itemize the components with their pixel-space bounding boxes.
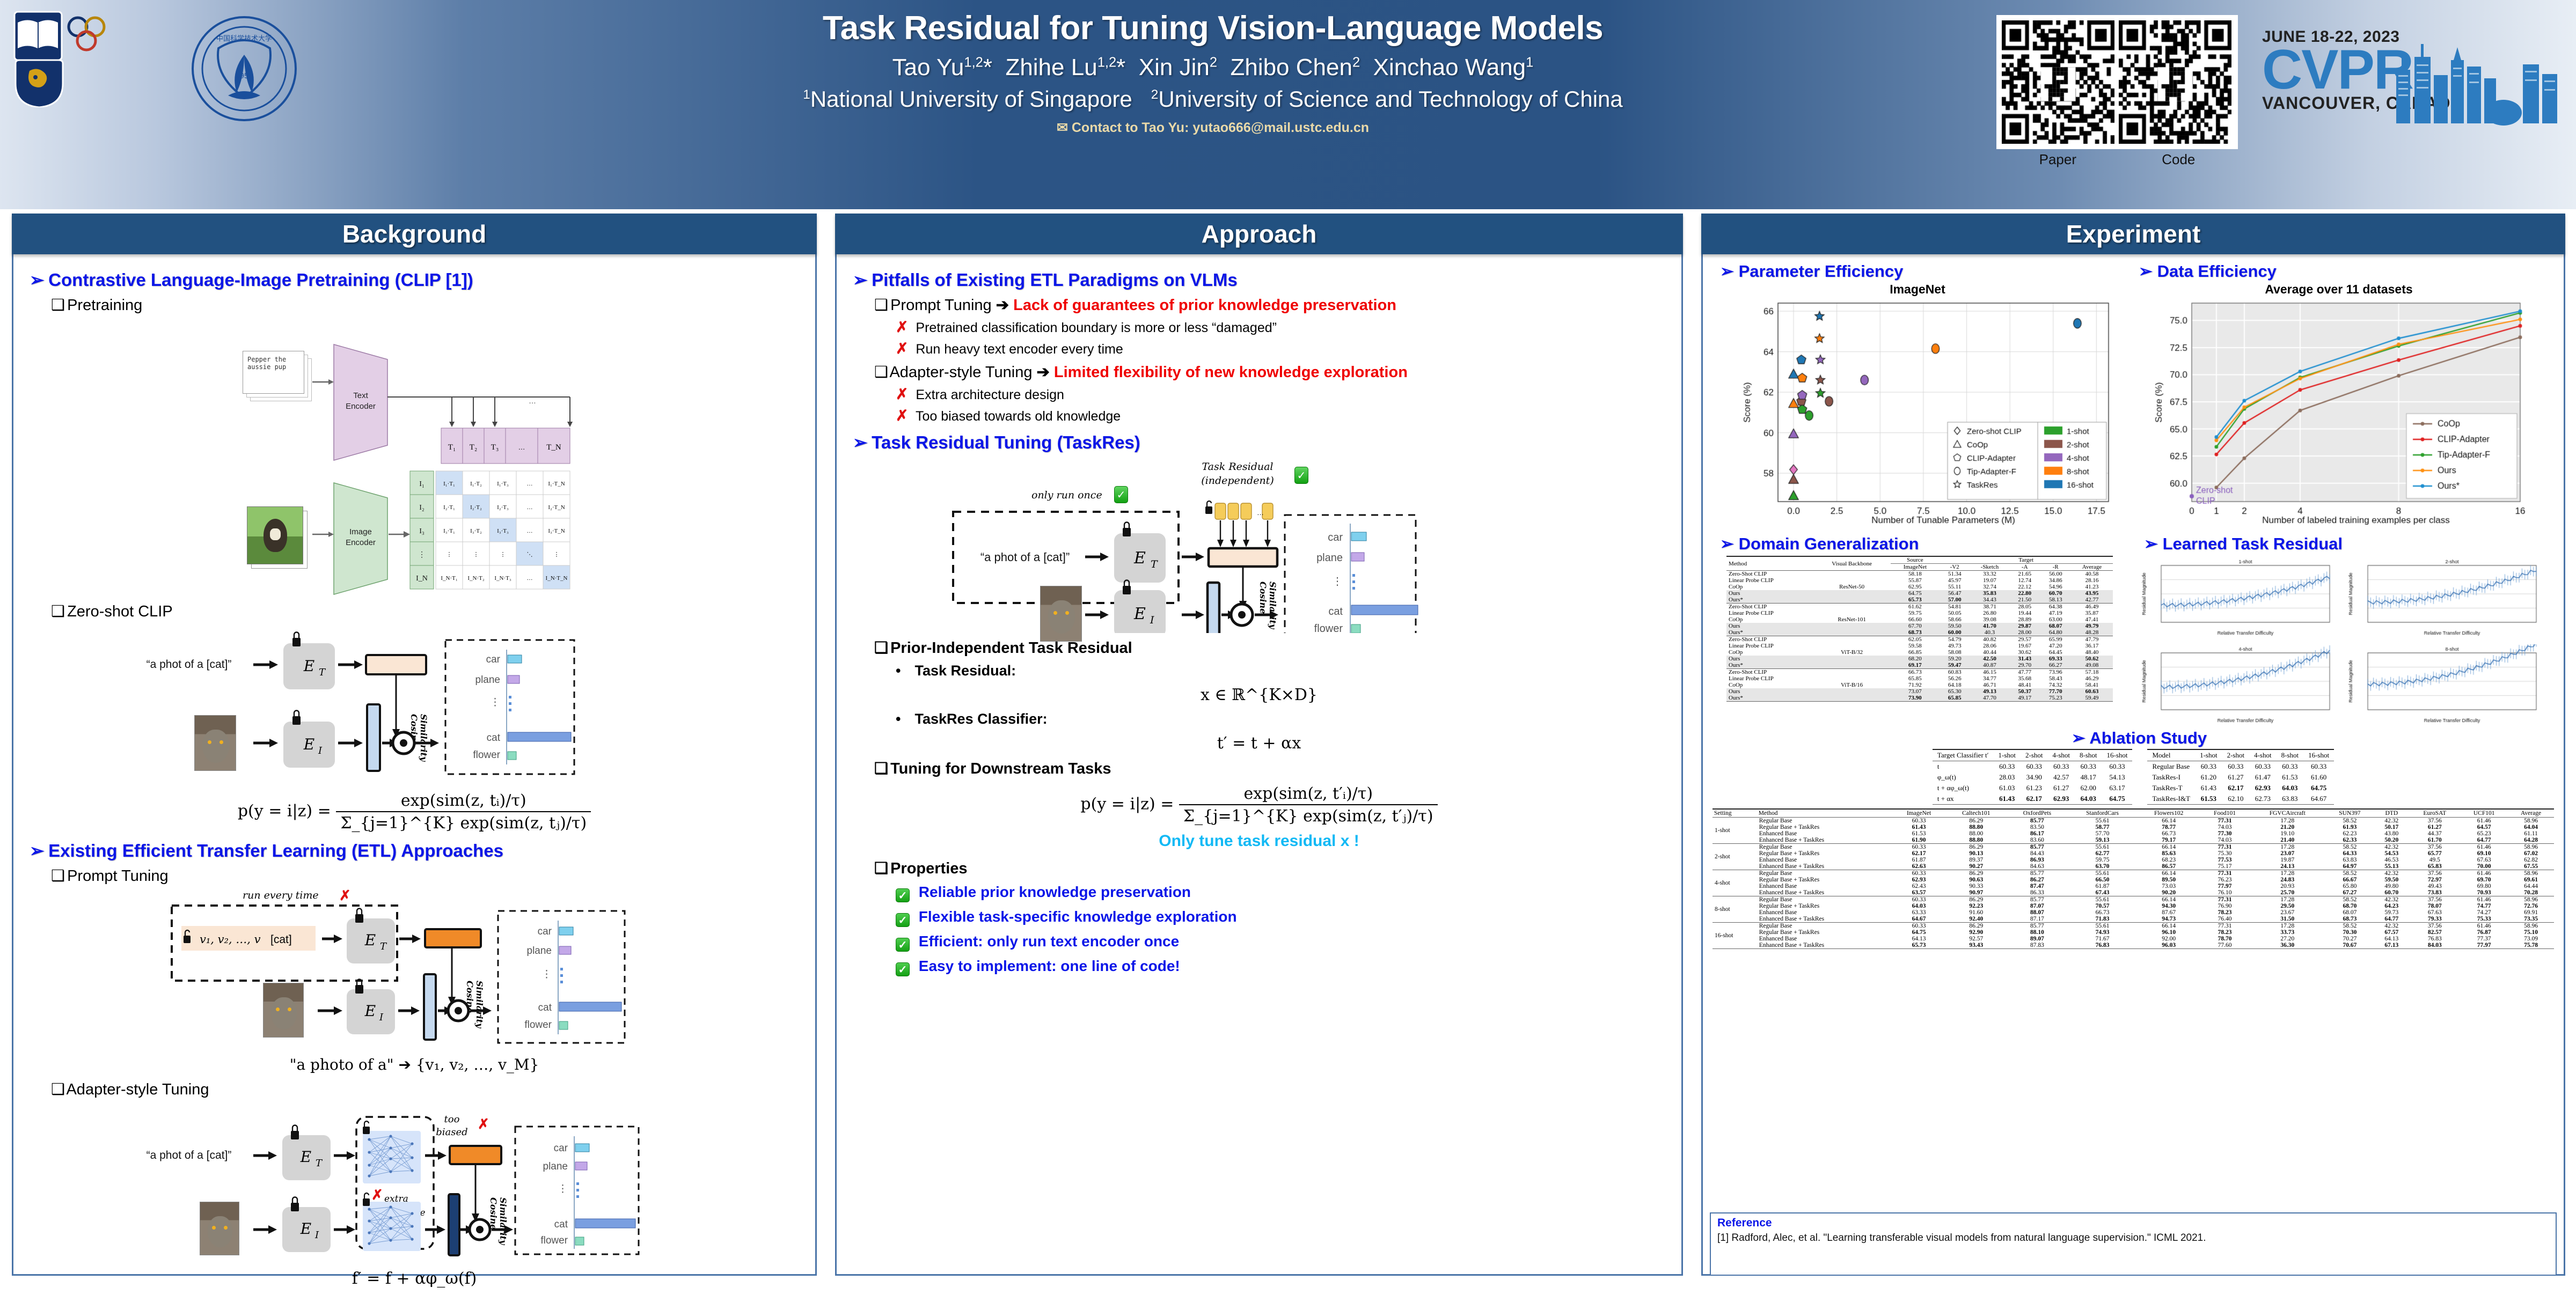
section-clip: ➢ Contrastive Language-Image Pretraining… — [30, 269, 806, 290]
pitfall-adapter-tuning: ❑ Adapter-style Tuning ➔ Limited flexibi… — [874, 363, 1672, 381]
table-row: Enhanced Base + TaskRes61.9088.8083.6059… — [1713, 837, 2554, 844]
poster-header: 1958 中国科学技术大学 Task Residual for Tuning V… — [0, 0, 2576, 209]
column-experiment: Experiment ➢ Parameter Efficiency ImageN… — [1701, 214, 2565, 1276]
subsection-adapter-tuning: ❑ Adapter-style Tuning — [51, 1080, 806, 1099]
qr-code-group: Paper Code — [1996, 15, 2238, 168]
svg-text:…: … — [527, 528, 533, 534]
svg-text:plane: plane — [527, 945, 552, 957]
page-title: Task Residual for Tuning Vision-Language… — [472, 10, 1953, 47]
table-row: 2-shotRegular Base60.3386.2985.7755.6166… — [1713, 843, 2554, 850]
column-approach: Approach ➢ Pitfalls of Existing ETL Para… — [835, 214, 1683, 1276]
table-row: Enhanced Base + TaskRes64.6792.4087.1771… — [1713, 916, 2554, 923]
svg-text:I_N: I_N — [416, 575, 428, 583]
bullet-arrow-icon: ➢ — [2144, 534, 2158, 554]
svg-text:T: T — [316, 1158, 323, 1169]
svg-text:T: T — [1151, 558, 1158, 570]
table-row: Ours*65.7357.0034.4321.5058.1342.77 — [1726, 597, 2113, 604]
table-row: Ours*69.1759.4740.8729.7066.2749.08 — [1726, 662, 2113, 669]
table-row: Regular Base + TaskRes64.7592.9088.1074.… — [1713, 929, 2554, 936]
subsection-zeroshot-clip: ❑ Zero-shot CLIP — [51, 602, 806, 621]
svg-text:T: T — [319, 667, 326, 678]
pitfall-point: ✗ Pretrained classification boundary is … — [896, 318, 1672, 336]
table-row: Ours67.7059.5041.7029.8768.0749.79 — [1726, 623, 2113, 629]
svg-text:⋮: ⋮ — [473, 551, 479, 558]
task-residual-formula: x ∈ ℝ^{K×D} — [846, 686, 1672, 704]
data-efficiency-chart — [2151, 297, 2527, 527]
paper-qr-label: Paper — [2039, 151, 2076, 168]
svg-text:E: E — [1133, 549, 1146, 568]
table-row: Ours*73.9065.8547.7049.1775.2359.49 — [1726, 695, 2113, 702]
svg-text:I₁·T₁: I₁·T₁ — [443, 481, 455, 487]
ltr-panel — [2140, 644, 2342, 727]
table-row: 16-shotRegular Base60.3386.2985.7755.616… — [1713, 922, 2554, 929]
property-item: ✓ Easy to implement: one line of code! — [896, 958, 1672, 976]
section-parameter-efficiency: ➢ Parameter Efficiency — [1720, 262, 2127, 281]
svg-text:E: E — [300, 1220, 311, 1238]
pitfall-prompt-tuning: ❑ Prompt Tuning ➔ Lack of guarantees of … — [874, 296, 1672, 314]
svg-text:…: … — [1257, 509, 1264, 517]
cat-photo — [1040, 586, 1082, 642]
table-row: CoOpResNet-10166.6058.6639.0828.8963.004… — [1726, 616, 2113, 623]
square-bullet-icon: ❑ — [51, 1080, 63, 1099]
table-row: Enhanced Base64.1392.5789.0771.6792.0078… — [1713, 936, 2554, 942]
scatter-chart-title: ImageNet — [1708, 282, 2127, 297]
subsection-prompt-tuning: ❑ Prompt Tuning — [51, 866, 806, 885]
svg-text:biased: biased — [436, 1127, 467, 1138]
svg-text:cat: cat — [1328, 606, 1343, 617]
subsection-properties: ❑ Properties — [874, 859, 1672, 878]
svg-text:car: car — [554, 1143, 568, 1154]
svg-text:…: … — [527, 504, 533, 511]
table-row: t60.3360.3360.3360.3360.33 — [1933, 761, 2133, 773]
x-mark-icon: ✗ — [896, 407, 908, 424]
cat-photo — [263, 983, 304, 1038]
nus-logo — [13, 11, 118, 102]
svg-text:T₁: T₁ — [448, 443, 456, 452]
svg-text:I₂·T₂: I₂·T₂ — [470, 504, 482, 511]
square-bullet-icon: ❑ — [874, 859, 886, 878]
svg-text:flower: flower — [1314, 623, 1343, 633]
svg-text:I₁·T_N: I₁·T_N — [548, 481, 565, 487]
svg-text:I₃·T₂: I₃·T₂ — [470, 528, 482, 534]
svg-text:…: … — [527, 575, 533, 582]
table-row: 4-shotRegular Base60.3386.2985.7755.6166… — [1713, 870, 2554, 877]
bullet-arrow-icon: ➢ — [30, 840, 43, 861]
svg-text:E: E — [300, 1148, 311, 1166]
x-mark-icon: ✗ — [339, 887, 351, 904]
svg-text:✗: ✗ — [371, 1187, 383, 1203]
svg-text:T_N: T_N — [546, 443, 561, 452]
svg-text:I: I — [318, 745, 323, 756]
table-row: Ours*68.7360.0040.328.0064.8048.28 — [1726, 629, 2113, 636]
svg-text:I₂·T₁: I₂·T₁ — [443, 504, 455, 511]
svg-text:I_N·T₂: I_N·T₂ — [467, 575, 484, 582]
svg-text:⋮: ⋮ — [554, 551, 560, 558]
table-row: CoOpResNet-5062.9555.1132.7422.1254.9641… — [1726, 584, 2113, 590]
check-icon: ✓ — [896, 888, 910, 902]
bullet-arrow-icon: ➢ — [2139, 262, 2153, 281]
svg-text:cat: cat — [554, 1219, 568, 1230]
table-row: Ours68.2059.2042.5031.4369.3350.62 — [1726, 656, 2113, 662]
x-mark-icon: ✗ — [896, 319, 908, 335]
svg-text:…: … — [529, 396, 536, 405]
svg-text:⋮: ⋮ — [418, 551, 426, 559]
table-row: Regular Base + TaskRes62.1790.1384.4362.… — [1713, 850, 2554, 857]
zeroshot-clip-diagram: “a phot of a [cat]” E T Cosine Similarit… — [28, 624, 801, 785]
svg-text:⋱: ⋱ — [527, 551, 533, 558]
svg-text:flower: flower — [540, 1235, 568, 1246]
table-row: φ_ω(t)28.0334.9042.5748.1754.13 — [1933, 772, 2133, 783]
table-row: CoOpViT-B/1671.9264.1846.7148.4174.3258.… — [1726, 682, 2113, 688]
table-row: Linear Probe CLIP59.7550.0526.8019.4447.… — [1726, 610, 2113, 616]
svg-text:Similarity: Similarity — [419, 714, 429, 762]
subsection-prior-independent: ❑ Prior-Independent Task Residual — [874, 638, 1672, 657]
svg-text:flower: flower — [524, 1019, 552, 1031]
table-row: Zero-Shot CLIP62.0554.7940.8229.5765.994… — [1726, 636, 2113, 643]
svg-text:Encoder: Encoder — [346, 538, 376, 547]
author-list: Tao Yu1,2* Zhihe Lu1,2* Xin Jin2 Zhibo C… — [472, 54, 1953, 81]
prompt-tuning-diagram: run every time ✗ v₁, v₂, …, v [cat] E T … — [28, 888, 801, 1049]
table-row: t + αφ_ω(t)61.0361.2361.2762.0063.17 — [1933, 783, 2133, 793]
svg-text:T₃: T₃ — [491, 443, 499, 452]
svg-text:Image: Image — [349, 527, 372, 536]
x-mark-icon: ✗ — [896, 386, 908, 402]
section-taskres: ➢ Task Residual Tuning (TaskRes) — [853, 432, 1672, 453]
table-row: Linear Probe CLIP59.5849.7328.0619.6747.… — [1726, 643, 2113, 649]
zeroshot-formula: p(y = i|z) = exp(sim(z, tᵢ)/τ) Σ_{j=1}^{… — [23, 791, 806, 833]
bullet-arrow-icon: ➢ — [853, 269, 867, 290]
svg-text:I₃·T₃: I₃·T₃ — [497, 528, 509, 534]
square-bullet-icon: ❑ — [51, 602, 63, 621]
svg-text:I_N·T₃: I_N·T₃ — [494, 575, 511, 582]
svg-text:I₃·T_N: I₃·T_N — [548, 528, 565, 534]
domain-generalization-table: MethodVisual BackboneSourceTargetImageNe… — [1726, 556, 2132, 702]
check-icon: ✓ — [1294, 467, 1308, 484]
table-row: t + αx61.4362.1762.9364.0364.75 — [1933, 793, 2133, 805]
code-qr-code[interactable] — [2119, 20, 2231, 144]
taskres-diagram: Task Residual (independent) ✓ only run o… — [851, 456, 1667, 633]
subsection-pretraining: ❑ Pretraining — [51, 296, 806, 314]
svg-text:⋮: ⋮ — [447, 551, 452, 558]
ltr-panel — [2346, 557, 2549, 640]
check-icon: ✓ — [896, 962, 910, 976]
run-every-time-note: run every time — [243, 889, 319, 901]
bullet-arrow-icon: ➢ — [853, 432, 867, 453]
square-bullet-icon: ❑ — [51, 866, 63, 885]
table-row: Linear Probe CLIP55.8745.9719.0712.7434.… — [1726, 577, 2113, 584]
table-row: 1-shotRegular Base60.3386.2985.7755.6166… — [1713, 817, 2554, 824]
svg-text:I: I — [314, 1230, 319, 1241]
svg-text:I₃·T₁: I₃·T₁ — [443, 528, 455, 534]
reference-entry: [1] Radford, Alec, et al. "Learning tran… — [1717, 1232, 2549, 1244]
table-row: Enhanced Base + TaskRes62.6390.2784.6363… — [1713, 863, 2554, 870]
section-etl: ➢ Existing Efficient Transfer Learning (… — [30, 840, 806, 861]
table-row: Regular Base + TaskRes62.9390.6386.2766.… — [1713, 877, 2554, 883]
bullet-arrow-icon: ➢ — [30, 269, 43, 290]
table-row: Ours64.7556.4735.8322.8060.7043.95 — [1726, 590, 2113, 597]
svg-text:Text: Text — [353, 391, 368, 400]
ablation-left-table: Target Classifier t′1-shot2-shot4-shot8-… — [1933, 749, 2133, 805]
svg-text:“a phot of a [cat]”: “a phot of a [cat]” — [980, 550, 1070, 564]
table-row: Enhanced Base + TaskRes63.5790.9786.3367… — [1713, 889, 2554, 896]
section-data-efficiency: ➢ Data Efficiency — [2139, 262, 2551, 281]
only-tune-note: Only tune task residual x ! — [846, 832, 1672, 850]
adapter-tuning-diagram: “a phot of a [cat]” E T Co — [28, 1102, 801, 1263]
pitfall-point: ✗ Extra architecture design — [896, 385, 1672, 403]
experiment-heading: Experiment — [1701, 214, 2565, 254]
x-mark-icon: ✗ — [896, 340, 908, 357]
item-taskres-classifier: • TaskRes Classifier: — [896, 711, 1672, 727]
cat-photo — [200, 1202, 239, 1255]
svg-text:car: car — [486, 654, 501, 665]
svg-text:plane: plane — [475, 674, 501, 686]
table-row: Enhanced Base62.4390.3387.4761.8773.0377… — [1713, 883, 2554, 889]
svg-text:⋮: ⋮ — [1332, 576, 1343, 587]
svg-text:I₁·T₃: I₁·T₃ — [497, 481, 509, 487]
paper-qr-code[interactable] — [2002, 20, 2114, 144]
svg-text:I₂·T₃: I₂·T₃ — [497, 504, 509, 511]
reference-title: Reference — [1717, 1217, 2549, 1230]
svg-text:I_N·T_N: I_N·T_N — [546, 575, 568, 582]
contact-line: ✉ Contact to Tao Yu: yutao666@mail.ustc.… — [472, 120, 1953, 136]
section-pitfalls: ➢ Pitfalls of Existing ETL Paradigms on … — [853, 269, 1672, 290]
table-row: TaskRes-I&T61.5362.1062.7363.8364.67 — [2147, 793, 2334, 805]
table-row: Zero-Shot CLIP61.6254.8138.7128.0564.384… — [1726, 604, 2113, 610]
dot-bullet-icon: • — [896, 663, 911, 679]
taskres-classifier-formula: t′ = t + αx — [846, 734, 1672, 753]
svg-text:plane: plane — [543, 1161, 568, 1172]
svg-text:plane: plane — [1316, 552, 1343, 564]
prompt-tuning-caption: "a photo of a" ➔ {v₁, v₂, …, v_M} — [23, 1056, 806, 1073]
svg-text:Cosine: Cosine — [1258, 582, 1268, 614]
bullet-arrow-icon: ➢ — [1720, 534, 1734, 554]
table-row: Enhanced Base63.3391.6088.0766.7387.6778… — [1713, 909, 2554, 916]
section-ablation-study: ➢ Ablation Study — [1720, 729, 2558, 748]
reference-box: Reference [1] Radford, Alec, et al. "Lea… — [1710, 1212, 2557, 1276]
ltr-panel — [2346, 644, 2549, 727]
line-chart-title: Average over 11 datasets — [2127, 282, 2551, 297]
background-heading: Background — [12, 214, 817, 254]
svg-text:I_N·T₁: I_N·T₁ — [441, 575, 457, 582]
svg-text:too: too — [444, 1114, 460, 1125]
svg-text:cat: cat — [487, 732, 501, 744]
bullet-arrow-icon: ➢ — [2072, 729, 2085, 748]
table-row: Regular Base + TaskRes61.4388.8083.5058.… — [1713, 824, 2554, 830]
sample-image-thumb — [247, 506, 303, 564]
svg-text:v₁, v₂, …, v: v₁, v₂, …, v — [200, 933, 261, 946]
table-row: Ours73.0765.3049.1350.3777.7060.63 — [1726, 688, 2113, 695]
svg-text:⋮: ⋮ — [500, 551, 506, 558]
square-bullet-icon: ❑ — [874, 363, 886, 381]
square-bullet-icon: ❑ — [874, 638, 886, 657]
svg-text:E: E — [364, 931, 376, 949]
svg-text:T₂: T₂ — [470, 443, 477, 452]
ltr-panel — [2140, 557, 2342, 640]
section-learned-task-residual: ➢ Learned Task Residual — [2144, 534, 2556, 554]
property-item: ✓ Flexible task-specific knowledge explo… — [896, 908, 1672, 927]
cat-photo — [194, 715, 236, 771]
column-background: Background ➢ Contrastive Language-Image … — [12, 214, 817, 1276]
table-row: Enhanced Base61.5388.0086.1757.7066.7377… — [1713, 830, 2554, 837]
svg-text:…: … — [518, 443, 525, 451]
parameter-efficiency-chart — [1740, 297, 2116, 527]
svg-text:Similarity: Similarity — [474, 981, 485, 1029]
svg-text:Similarity: Similarity — [498, 1197, 508, 1246]
svg-text:1958: 1958 — [235, 71, 253, 80]
table-row: Regular Base60.3360.3360.3360.3360.33 — [2147, 761, 2334, 773]
svg-text:✗: ✗ — [478, 1116, 489, 1132]
svg-text:I₁·T₂: I₁·T₂ — [470, 481, 482, 487]
check-icon: ✓ — [896, 938, 910, 952]
ablation-right-table: Model1-shot2-shot4-shot8-shot16-shotRegu… — [2147, 749, 2334, 805]
arrow-right-icon: ➔ — [1037, 364, 1050, 381]
svg-text:car: car — [538, 926, 552, 937]
bullet-arrow-icon: ➢ — [1720, 262, 1734, 281]
svg-text:Similarity: Similarity — [1268, 582, 1278, 630]
table-row: CoOpViT-B/3266.8558.0840.4430.6264.4548.… — [1726, 649, 2113, 656]
svg-text:flower: flower — [473, 749, 500, 761]
table-row: Enhanced Base + TaskRes65.7393.4387.8376… — [1713, 942, 2554, 949]
table-row: TaskRes-T61.4362.1762.9364.0364.75 — [2147, 783, 2334, 793]
arrow-right-icon: ➔ — [996, 297, 1009, 314]
svg-text:I: I — [379, 1012, 384, 1023]
svg-text:I: I — [1150, 614, 1154, 626]
svg-text:E: E — [303, 735, 314, 753]
table-row: Enhanced Base61.8789.3786.9359.7568.2377… — [1713, 857, 2554, 863]
svg-text:⋮: ⋮ — [490, 697, 500, 708]
adapter-formula: f′ = f + αφ_ω(f) — [23, 1269, 806, 1288]
table-row: 8-shotRegular Base60.3386.2985.7755.6166… — [1713, 896, 2554, 903]
table-row: Zero-Shot CLIP66.7360.8346.1547.7773.965… — [1726, 669, 2113, 676]
square-bullet-icon: ❑ — [874, 296, 886, 314]
table-row: Linear Probe CLIP65.8556.2634.7735.6858.… — [1726, 675, 2113, 682]
code-qr-label: Code — [2162, 151, 2195, 168]
clip-pretraining-diagram: Pepper the aussie pup Text Encoder … — [28, 318, 801, 597]
svg-text:car: car — [1328, 532, 1343, 543]
svg-text:I₂: I₂ — [419, 504, 425, 512]
vancouver-skyline-icon — [2391, 32, 2563, 131]
item-task-residual: • Task Residual: — [896, 663, 1672, 679]
approach-heading: Approach — [835, 214, 1683, 254]
svg-text:E: E — [1133, 605, 1146, 623]
task-residual-note: Task Residual (independent) — [1184, 460, 1291, 488]
svg-text:…: … — [527, 481, 533, 487]
svg-text:[cat]: [cat] — [270, 933, 292, 946]
svg-text:I₃: I₃ — [419, 527, 425, 535]
check-icon: ✓ — [896, 913, 910, 927]
property-item: ✓ Efficient: only run text encoder once — [896, 933, 1672, 952]
pitfall-point: ✗ Run heavy text encoder every time — [896, 340, 1672, 357]
svg-text:T: T — [380, 941, 387, 952]
subsection-tuning-downstream: ❑ Tuning for Downstream Tasks — [874, 759, 1672, 778]
square-bullet-icon: ❑ — [874, 759, 886, 778]
dot-bullet-icon: • — [896, 711, 911, 727]
main-results-table: SettingMethodImageNetCaltech101OxfordPet… — [1713, 808, 2554, 950]
svg-text:⋮: ⋮ — [558, 1183, 568, 1195]
only-run-once-note: only run once — [1031, 489, 1102, 501]
learned-task-residual-panels — [2140, 557, 2549, 727]
table-row: TaskRes-I61.2061.2761.4761.5361.60 — [2147, 772, 2334, 783]
svg-text:“a phot of a [cat]”: “a phot of a [cat]” — [147, 658, 232, 671]
svg-text:E: E — [364, 1002, 376, 1020]
table-row: Zero-Shot CLIP58.1851.3433.3221.6556.004… — [1726, 571, 2113, 578]
svg-text:中国科学技术大学: 中国科学技术大学 — [216, 34, 272, 42]
affiliation-list: 1National University of Singapore 2Unive… — [472, 86, 1953, 112]
svg-text:I₂·T_N: I₂·T_N — [548, 504, 565, 511]
section-domain-generalization: ➢ Domain Generalization — [1720, 534, 2132, 554]
svg-text:cat: cat — [538, 1002, 552, 1013]
ustc-logo: 1958 中国科学技术大学 — [191, 15, 298, 122]
svg-text:⋮: ⋮ — [541, 969, 552, 980]
svg-text:I₁: I₁ — [419, 480, 425, 488]
table-row: Regular Base + TaskRes64.0392.2387.0770.… — [1713, 903, 2554, 909]
svg-text:E: E — [303, 657, 314, 675]
pitfall-point: ✗ Too biased towards old knowledge — [896, 407, 1672, 424]
downstream-formula: p(y = i|z) = exp(sim(z, t′ᵢ)/τ) Σ_{j=1}^… — [846, 784, 1672, 826]
square-bullet-icon: ❑ — [51, 296, 63, 314]
svg-text:“a phot of a [cat]”: “a phot of a [cat]” — [147, 1149, 232, 1161]
property-item: ✓ Reliable prior knowledge preservation — [896, 884, 1672, 902]
check-icon: ✓ — [1114, 486, 1128, 503]
svg-text:Encoder: Encoder — [346, 402, 376, 411]
